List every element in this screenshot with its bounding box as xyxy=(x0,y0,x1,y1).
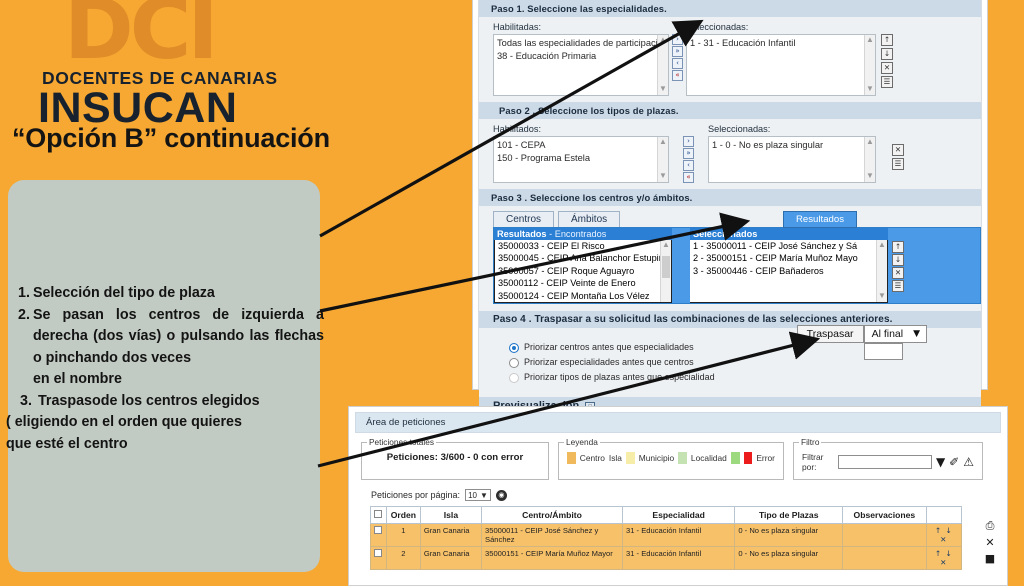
paso2-move-buttons: › » ‹ « xyxy=(669,124,708,183)
paso1-seleccionadas-listbox[interactable]: 1 - 31 - Educación Infantil ▲ ▼ xyxy=(686,34,876,96)
posicion-select-value: Al final xyxy=(872,328,904,340)
list-number: 2. xyxy=(18,305,33,391)
chevron-up-icon[interactable]: ▲ xyxy=(877,240,887,250)
swatch-centro xyxy=(567,452,576,464)
radio-icon[interactable] xyxy=(509,343,519,353)
checkbox-icon[interactable] xyxy=(374,510,382,518)
column-orden: Orden xyxy=(386,507,420,524)
cell-tipo-plazas: 0 - No es plaza singular xyxy=(735,547,843,570)
leyenda-label: Centro xyxy=(580,453,605,463)
list-item[interactable]: 38 - Educación Primaria xyxy=(497,50,668,63)
column-isla: Isla xyxy=(420,507,481,524)
paso1-header: Paso 1. Seleccione las especialidades. xyxy=(479,0,981,17)
instructions-continuation: ( eligiendo en el orden que quieresque e… xyxy=(6,412,324,455)
list-item[interactable]: 35000112 - CEIP Veinte de Enero xyxy=(498,277,671,289)
logo-mark: DCI xyxy=(64,0,284,72)
chevron-down-icon[interactable]: ▼ xyxy=(658,84,668,94)
list-text: Traspasode los centros elegidos xyxy=(35,391,324,413)
move-down-icon[interactable]: ↓ xyxy=(892,254,904,266)
radio-label: Priorizar centros antes que especialidad… xyxy=(524,340,694,355)
chevron-down-icon[interactable]: ▼ xyxy=(865,171,875,181)
per-page-value: 10 xyxy=(468,491,477,500)
select-all-header[interactable] xyxy=(371,507,387,524)
peticiones-table: Orden Isla Centro/Ámbito Especialidad Ti… xyxy=(370,506,962,570)
filter-icon[interactable]: ▼ xyxy=(936,456,945,468)
list-item[interactable]: 3 - 35000446 - CEIP Bañaderos xyxy=(693,265,887,277)
radio-priorizar-tipos-plazas[interactable]: Priorizar tipos de plazas antes que espe… xyxy=(509,370,981,385)
print-icon[interactable]: ⎙ xyxy=(986,519,995,533)
list-item: 3. Traspasode los centros elegidos xyxy=(6,391,324,413)
paso1-body: Habilitadas: Todas las especialidades de… xyxy=(479,17,981,102)
resultados-button[interactable]: Resultados xyxy=(783,211,857,228)
chevron-down-icon[interactable]: ▼ xyxy=(913,329,920,339)
paso3-body: Centros Ámbitos Resultados Resultados - … xyxy=(479,206,981,304)
per-page-control: Peticiones por página: 10 ▼ ◉ xyxy=(355,480,1001,506)
table-row: 1 Gran Canaria 35000011 - CEIP José Sánc… xyxy=(371,524,962,547)
cell-orden: 2 xyxy=(386,547,420,570)
cell-especialidad: 31 - Educación Infantil xyxy=(623,547,735,570)
checkbox-icon[interactable] xyxy=(374,549,382,557)
remove-icon[interactable]: ✕ xyxy=(881,62,893,74)
list-item[interactable]: Todas las especialidades de participació xyxy=(497,37,668,50)
paso3-right-header: Seleccionados xyxy=(690,228,888,240)
list-number: 3. xyxy=(20,391,35,413)
paso1-habilitadas-listbox[interactable]: Todas las especialidades de participació… xyxy=(493,34,669,96)
paso2-header: Paso 2 . Seleccione los tipos de plazas. xyxy=(479,102,981,119)
table-side-tools: ⎙ ✕ ■ xyxy=(982,519,998,565)
move-right-button[interactable]: › xyxy=(683,136,694,147)
row-checkbox-cell[interactable] xyxy=(371,547,387,570)
scrollbar[interactable]: ▲ xyxy=(660,240,671,302)
area-peticiones-header: Área de peticiones xyxy=(355,412,1001,433)
column-centro-ambito: Centro/Ámbito xyxy=(482,507,623,524)
trash-icon[interactable]: ■ xyxy=(985,552,995,565)
per-page-label: Peticiones por página: xyxy=(371,490,460,500)
move-left-button[interactable]: ‹ xyxy=(672,58,683,69)
swatch-municipio xyxy=(678,452,687,464)
chevron-up-icon[interactable]: ▲ xyxy=(865,137,875,147)
traspasar-button[interactable]: Traspasar xyxy=(797,325,864,343)
chevron-down-icon[interactable]: ▼ xyxy=(480,491,488,500)
move-left-button[interactable]: ‹ xyxy=(683,160,694,171)
chevron-up-icon[interactable]: ▲ xyxy=(658,137,668,147)
list-item[interactable]: 101 - CEPA xyxy=(497,139,668,152)
filtro-fieldset: Filtro Filtrar por: ▼ ✐ ⚠ xyxy=(793,442,983,480)
fieldset-caption: Leyenda xyxy=(564,437,600,447)
column-observaciones: Observaciones xyxy=(843,507,926,524)
move-right-button[interactable]: › xyxy=(672,34,683,45)
scrollbar[interactable]: ▲ ▼ xyxy=(657,35,668,95)
chevron-down-icon[interactable]: ▼ xyxy=(658,171,668,181)
scrollbar[interactable]: ▲ ▼ xyxy=(876,240,887,302)
list-text: Selección del tipo de plaza xyxy=(33,283,324,305)
paso2-left-label: Habilitados: xyxy=(493,124,669,134)
traspasar-controls: Traspasar Al final ▼ xyxy=(797,325,927,360)
column-especialidad: Especialidad xyxy=(623,507,735,524)
table-header-row: Orden Isla Centro/Ámbito Especialidad Ti… xyxy=(371,507,962,524)
move-up-icon[interactable]: ↑ xyxy=(892,241,904,253)
cell-observaciones xyxy=(843,547,926,570)
cell-tipo-plazas: 0 - No es plaza singular xyxy=(735,524,843,547)
chevron-down-icon[interactable]: ▼ xyxy=(865,84,875,94)
clear-filter-icon[interactable]: ✐ xyxy=(949,456,959,468)
peticiones-totales-value: Peticiones: 3/600 - 0 con error xyxy=(370,452,540,463)
paso3-left-header: Resultados - Encontrados xyxy=(494,228,672,240)
leyenda-label: Municipio xyxy=(639,453,674,463)
leyenda-label: Isla xyxy=(609,453,622,463)
list-item[interactable]: 1 - 0 - No es plaza singular xyxy=(712,139,875,152)
paso3-seleccionados-listbox[interactable]: 1 - 35000011 - CEIP José Sánchez y Sá 2 … xyxy=(690,240,888,303)
radio-icon[interactable] xyxy=(509,373,519,383)
leyenda-items: Centro Isla Municipio Localidad Error xyxy=(567,452,775,464)
cell-especialidad: 31 - Educación Infantil xyxy=(623,524,735,547)
move-up-icon[interactable]: ↑ xyxy=(881,34,893,46)
solicitud-wizard-window: Paso 1. Seleccione las especialidades. H… xyxy=(472,0,988,390)
tab-centros[interactable]: Centros xyxy=(493,211,554,227)
leyenda-fieldset: Leyenda Centro Isla Municipio Localidad … xyxy=(558,442,784,480)
paso3-tabs: Centros Ámbitos Resultados xyxy=(493,211,981,227)
scroll-thumb[interactable] xyxy=(662,256,670,278)
list-item: 1. Selección del tipo de plaza xyxy=(6,283,324,305)
slide-title: “Opción B” continuación xyxy=(12,123,412,154)
column-tipo-plazas: Tipo de Plazas xyxy=(735,507,843,524)
swatch-error xyxy=(744,452,753,464)
table-row: 2 Gran Canaria 35000151 - CEIP María Muñ… xyxy=(371,547,962,570)
peticiones-window: Área de peticiones Peticiones totales Pe… xyxy=(348,406,1008,586)
leyenda-label: Localidad xyxy=(691,453,727,463)
list-text: Se pasan los centros de izquierda a dere… xyxy=(33,305,324,391)
peticiones-totales-fieldset: Peticiones totales Peticiones: 3/600 - 0… xyxy=(361,442,549,480)
cell-isla: Gran Canaria xyxy=(420,524,481,547)
radio-icon[interactable] xyxy=(509,358,519,368)
radio-label: Priorizar tipos de plazas antes que espe… xyxy=(524,370,715,385)
paso1-side-tools: ↑ ↓ ✕ ☰ xyxy=(876,22,893,88)
scrollbar[interactable]: ▲ ▼ xyxy=(657,137,668,182)
move-all-left-button[interactable]: « xyxy=(683,172,694,183)
paso2-seleccionadas-listbox[interactable]: 1 - 0 - No es plaza singular ▲ ▼ xyxy=(708,136,876,183)
list-item[interactable]: 150 - Programa Estela xyxy=(497,152,668,165)
chevron-up-icon[interactable]: ▲ xyxy=(661,240,671,250)
paso1-left-label: Habilitadas: xyxy=(493,22,669,32)
list-item[interactable]: 35000057 - CEIP Roque Aguayro xyxy=(498,265,671,277)
insucan-logo: DCI DOCENTES DE CANARIAS INSUCAN xyxy=(34,0,284,106)
filtro-input[interactable] xyxy=(838,455,932,469)
paso1-right-label: Seleccionadas: xyxy=(686,22,876,32)
clear-all-icon[interactable]: ☰ xyxy=(892,158,904,170)
cell-centro: 35000011 - CEIP José Sánchez y Sánchez xyxy=(482,524,623,547)
leyenda-label: Error xyxy=(756,453,775,463)
paso3-encontrados-listbox[interactable]: 35000033 - CEIP El Risco 35000045 - CEIP… xyxy=(494,240,672,303)
instructions-list: 1. Selección del tipo de plaza 2. Se pas… xyxy=(6,283,324,455)
paso3-panel: Resultados - Encontrados 35000033 - CEIP… xyxy=(493,227,981,304)
fieldset-caption: Filtro xyxy=(799,437,821,447)
list-item[interactable]: 2 - 35000151 - CEIP María Muñoz Mayo xyxy=(693,252,887,264)
list-item[interactable]: 35000045 - CEIP Ana Balanchor Estupiñ xyxy=(498,252,671,264)
remove-icon[interactable]: ✕ xyxy=(892,267,904,279)
delete-selected-icon[interactable]: ✕ xyxy=(985,536,994,549)
clear-all-icon[interactable]: ☰ xyxy=(892,280,904,292)
paso1-move-buttons: › » ‹ « xyxy=(669,22,686,81)
column-actions xyxy=(926,507,961,524)
chevron-down-icon[interactable]: ▼ xyxy=(877,291,887,301)
cell-centro: 35000151 - CEIP María Muñoz Mayor xyxy=(482,547,623,570)
cell-row-actions[interactable]: ↑ ↓ ✕ xyxy=(926,524,961,547)
posicion-input[interactable] xyxy=(864,343,903,360)
list-number: 1. xyxy=(18,283,33,305)
cell-orden: 1 xyxy=(386,524,420,547)
fieldset-caption: Peticiones totales xyxy=(367,437,436,447)
paso2-body: Habilitados: 101 - CEPA 150 - Programa E… xyxy=(479,119,981,189)
move-all-right-button[interactable]: » xyxy=(672,46,683,57)
warning-icon[interactable]: ⚠ xyxy=(963,456,974,468)
paso3-header: Paso 3 . Seleccione los centros y/o ámbi… xyxy=(479,189,981,206)
list-item[interactable]: 1 - 31 - Educación Infantil xyxy=(690,37,875,50)
checkbox-icon[interactable] xyxy=(374,526,382,534)
toggle-visibility-icon[interactable]: ◉ xyxy=(496,490,507,501)
scrollbar[interactable]: ▲ ▼ xyxy=(864,35,875,95)
cell-observaciones xyxy=(843,524,926,547)
list-item: 2. Se pasan los centros de izquierda a d… xyxy=(6,305,324,391)
tab-ambitos[interactable]: Ámbitos xyxy=(558,211,620,227)
paso3-side-tools: ↑ ↓ ✕ ☰ xyxy=(888,228,904,303)
remove-icon[interactable]: ✕ xyxy=(892,144,904,156)
paso2-side-tools: ✕ ☰ xyxy=(876,124,904,170)
swatch-isla xyxy=(626,452,635,464)
list-item[interactable]: 35000033 - CEIP El Risco xyxy=(498,240,671,252)
clear-all-icon[interactable]: ☰ xyxy=(881,76,893,88)
move-all-right-button[interactable]: » xyxy=(683,148,694,159)
list-item[interactable]: 1 - 35000011 - CEIP José Sánchez y Sá xyxy=(693,240,887,252)
filtro-label: Filtrar por: xyxy=(802,452,834,472)
chevron-up-icon[interactable]: ▲ xyxy=(658,35,668,45)
scrollbar[interactable]: ▲ ▼ xyxy=(864,137,875,182)
list-item[interactable]: 35000124 - CEIP Montaña Los Vélez xyxy=(498,290,671,302)
move-down-icon[interactable]: ↓ xyxy=(881,48,893,60)
paso2-right-label: Seleccionadas: xyxy=(708,124,876,134)
swatch-localidad xyxy=(731,452,740,464)
radio-label: Priorizar especialidades antes que centr… xyxy=(524,355,694,370)
move-all-left-button[interactable]: « xyxy=(672,70,683,81)
cell-isla: Gran Canaria xyxy=(420,547,481,570)
row-checkbox-cell[interactable] xyxy=(371,524,387,547)
cell-row-actions[interactable]: ↑ ↓ ✕ xyxy=(926,547,961,570)
per-page-select[interactable]: 10 ▼ xyxy=(465,489,491,501)
paso2-habilitados-listbox[interactable]: 101 - CEPA 150 - Programa Estela ▲ ▼ xyxy=(493,136,669,183)
chevron-up-icon[interactable]: ▲ xyxy=(865,35,875,45)
posicion-select[interactable]: Al final ▼ xyxy=(864,325,927,343)
